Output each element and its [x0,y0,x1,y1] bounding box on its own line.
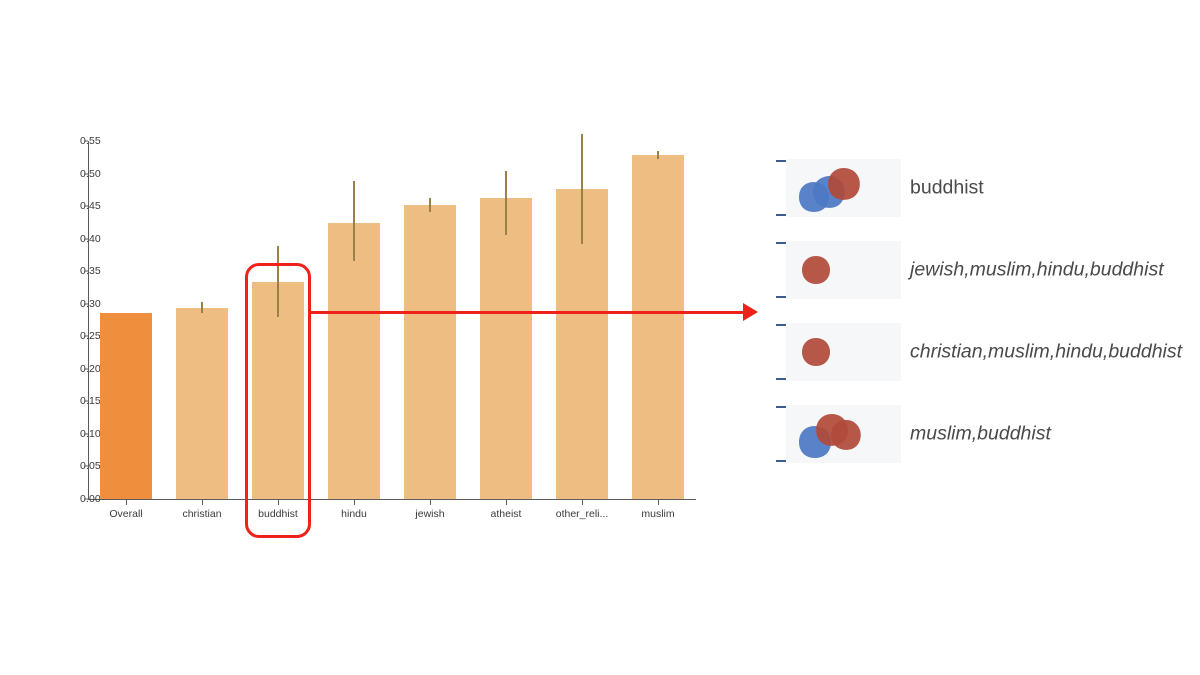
blob-cluster-icon [786,405,901,463]
x-tick-mark [202,499,203,505]
legend-label: muslim,buddhist [910,423,1051,446]
screenshot-root: 0.000.050.100.150.200.250.300.350.400.45… [0,0,1200,675]
bar-atheist [480,198,532,499]
blob-shape [802,338,830,366]
x-tick-mark [354,499,355,505]
legend-item[interactable]: jewish,muslim,hindu,buddhist [770,239,1200,301]
blob-shape [802,256,830,284]
y-tick-mark [84,433,88,434]
y-tick-mark [84,173,88,174]
y-tick-mark [84,141,88,142]
blob-shape [828,168,860,200]
y-tick-mark [84,336,88,337]
x-tick-mark [658,499,659,505]
blob-thumbnail[interactable] [786,323,901,381]
y-tick-mark [84,499,88,500]
callout-arrow-line [311,311,745,314]
x-tick-label-atheist: atheist [491,508,522,520]
bar-overall [100,313,152,499]
error-bar [429,198,430,212]
callout-arrow-head [743,303,758,321]
y-tick-mark [84,206,88,207]
error-bar [201,302,202,312]
legend-item[interactable]: christian,muslim,hindu,buddhist [770,321,1200,383]
blob-cluster-icon [786,323,901,381]
x-tick-label-overall: Overall [109,508,142,520]
x-tick-mark [506,499,507,505]
x-tick-mark [582,499,583,505]
x-tick-mark [430,499,431,505]
bar-christian [176,308,228,499]
legend-item[interactable]: muslim,buddhist [770,403,1200,465]
highlight-rectangle [245,263,311,538]
blob-thumbnail[interactable] [786,159,901,217]
blob-cluster-icon [786,159,901,217]
legend-item[interactable]: buddhist [770,157,1200,219]
y-tick-mark [84,368,88,369]
legend-label: jewish,muslim,hindu,buddhist [910,259,1164,282]
x-axis-line [88,499,696,500]
x-tick-label-other-reli-: other_reli... [556,508,609,520]
y-tick-mark [84,238,88,239]
blob-shape [831,420,861,450]
y-axis-line [88,141,89,500]
x-tick-mark [126,499,127,505]
error-bar [505,171,506,235]
x-tick-label-muslim: muslim [641,508,674,520]
x-tick-label-christian: christian [182,508,221,520]
error-bar [353,181,354,261]
x-tick-label-hindu: hindu [341,508,367,520]
error-bar [581,134,582,243]
blob-thumbnail[interactable] [786,241,901,299]
y-tick-mark [84,271,88,272]
bar-jewish [404,205,456,499]
x-tick-label-jewish: jewish [415,508,444,520]
y-tick-mark [84,401,88,402]
error-bar [657,151,658,159]
legend-label: buddhist [910,177,984,200]
y-tick-mark [84,466,88,467]
bar-hindu [328,223,380,499]
legend-label: christian,muslim,hindu,buddhist [910,341,1182,364]
blob-thumbnail[interactable] [786,405,901,463]
y-tick-mark [84,303,88,304]
bar-chart: 0.000.050.100.150.200.250.300.350.400.45… [0,0,760,675]
blob-cluster-icon [786,241,901,299]
bar-muslim [632,155,684,499]
